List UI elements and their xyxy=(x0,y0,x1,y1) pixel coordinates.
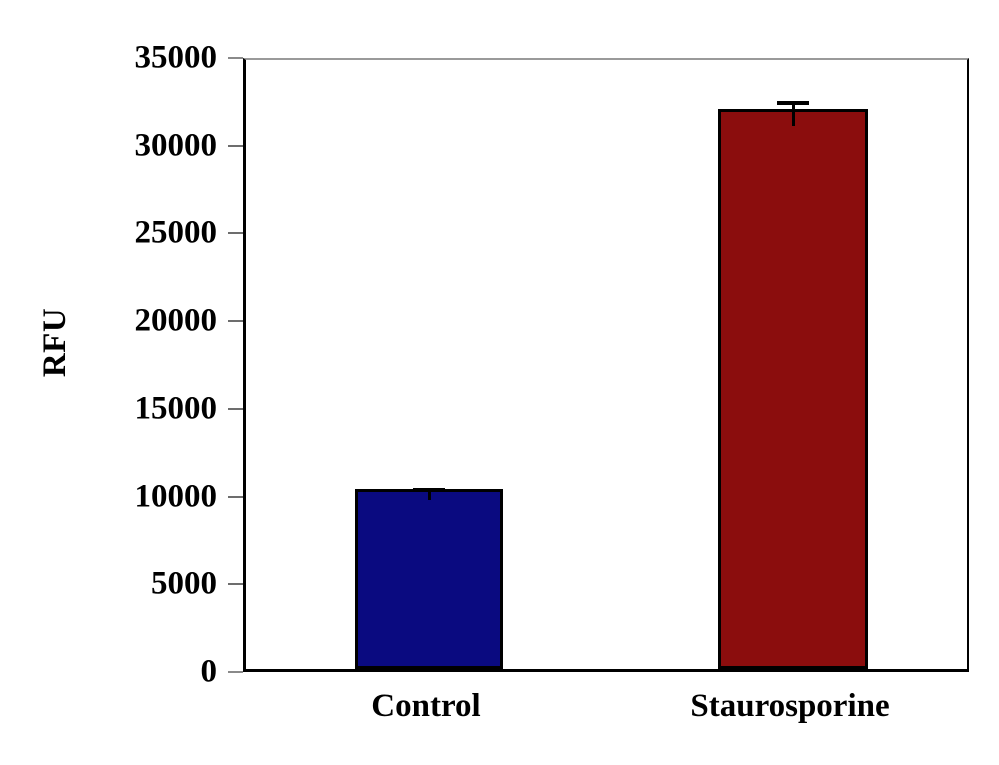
y-tick-mark xyxy=(228,671,243,673)
y-tick-mark xyxy=(228,57,243,59)
y-tick-label: 5000 xyxy=(151,568,217,601)
y-tick-mark xyxy=(228,408,243,410)
y-tick-mark xyxy=(228,145,243,147)
bar-control xyxy=(355,489,503,669)
y-tick-label: 10000 xyxy=(135,480,218,513)
error-bar-cap-top xyxy=(777,101,809,105)
y-tick-label: 20000 xyxy=(135,305,218,338)
x-tick-label-control: Control xyxy=(371,690,480,723)
y-tick-label: 35000 xyxy=(135,42,218,75)
bar-chart: RFU 05000100001500020000250003000035000 … xyxy=(0,0,999,765)
bar-staurosporine xyxy=(718,109,868,669)
y-tick-mark xyxy=(228,320,243,322)
y-tick-mark xyxy=(228,496,243,498)
x-tick-label-staurosporine: Staurosporine xyxy=(690,690,889,723)
y-axis-title-label: RFU xyxy=(37,308,74,377)
y-tick-label: 15000 xyxy=(135,392,218,425)
y-tick-label: 25000 xyxy=(135,217,218,250)
y-tick-label: 30000 xyxy=(135,129,218,162)
y-tick-mark xyxy=(228,232,243,234)
plot-area xyxy=(243,58,969,672)
y-tick-label: 0 xyxy=(201,656,218,689)
y-axis-title: RFU xyxy=(0,0,90,765)
error-bar-cap-top xyxy=(413,488,445,492)
y-tick-mark xyxy=(228,583,243,585)
